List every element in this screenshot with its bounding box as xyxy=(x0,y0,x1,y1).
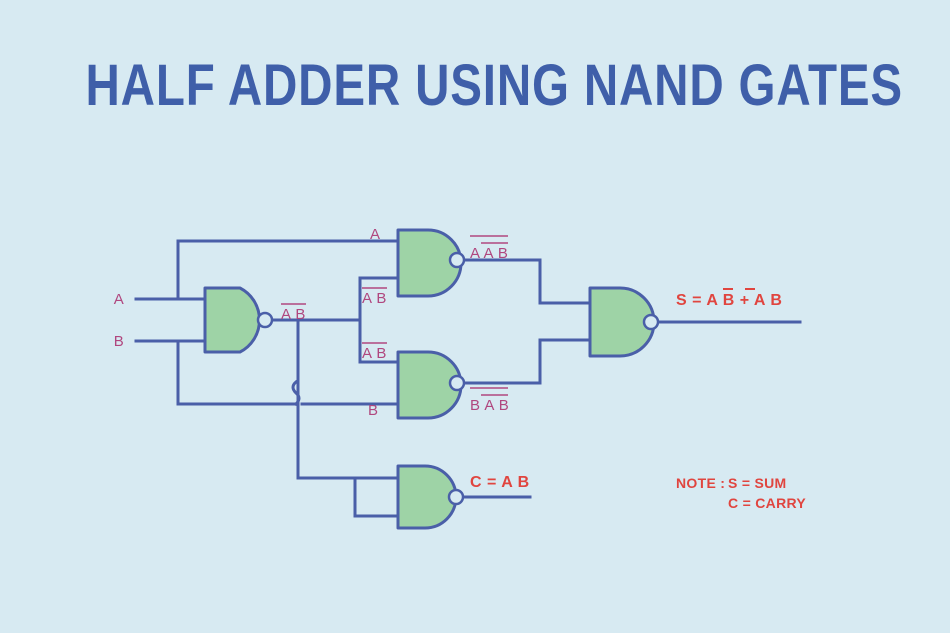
signal-label-gate1-out: A B xyxy=(281,304,306,323)
nand-gate-1-body xyxy=(205,288,260,352)
equation-carry: C = A B xyxy=(470,474,530,491)
wire-gate2-to-gate4 xyxy=(464,260,590,303)
nand-gate-5-bubble xyxy=(449,490,463,504)
wire-gate3-to-gate4 xyxy=(464,340,590,383)
nand-gate-2[interactable] xyxy=(398,230,464,296)
note-heading: NOTE : xyxy=(676,475,725,491)
nand-gate-5[interactable] xyxy=(398,466,463,528)
note-line-sum: S = SUM xyxy=(728,475,787,491)
note-block: NOTE : S = SUM C = CARRY xyxy=(676,475,806,511)
diagram-canvas: HALF ADDER USING NAND GATES xyxy=(0,0,950,633)
nand-gate-1[interactable] xyxy=(205,288,272,352)
nand-gate-3-bubble xyxy=(450,376,464,390)
nand-gate-5-body xyxy=(398,466,456,528)
input-b-label: B xyxy=(114,333,125,350)
signal-label-gate3-in-top: A B xyxy=(362,343,387,362)
nand-gate-4-bubble xyxy=(644,315,658,329)
nand-gate-3[interactable] xyxy=(398,352,464,418)
input-a-label: A xyxy=(114,291,125,308)
signal-label-gate2-in-bottom-text: A B xyxy=(362,290,387,307)
logic-circuit-svg: A B A B A A B A A B A B B B A B xyxy=(0,0,950,633)
signal-label-gate2-out-text: A A B xyxy=(470,245,508,262)
signal-label-gate3-out: B A B xyxy=(470,388,509,414)
equation-sum-text: S = A B + A B xyxy=(676,292,782,309)
equation-sum: S = A B + A B xyxy=(676,289,782,309)
signal-label-gate1-out-text: A B xyxy=(281,306,306,323)
nand-gate-1-bubble xyxy=(258,313,272,327)
note-line-carry: C = CARRY xyxy=(728,495,806,511)
nand-gate-4[interactable] xyxy=(590,288,658,356)
signal-label-gate2-out: A A B xyxy=(470,236,508,262)
signal-label-gate2-in-bottom: A B xyxy=(362,288,387,307)
signal-label-gate2-in-top: A xyxy=(370,226,381,243)
nand-gate-2-bubble xyxy=(450,253,464,267)
signal-label-gate3-in-bottom: B xyxy=(368,402,379,419)
wire-carry-input-loop xyxy=(355,478,398,516)
signal-label-gate3-in-top-text: A B xyxy=(362,345,387,362)
signal-label-gate3-out-text: B A B xyxy=(470,397,509,414)
